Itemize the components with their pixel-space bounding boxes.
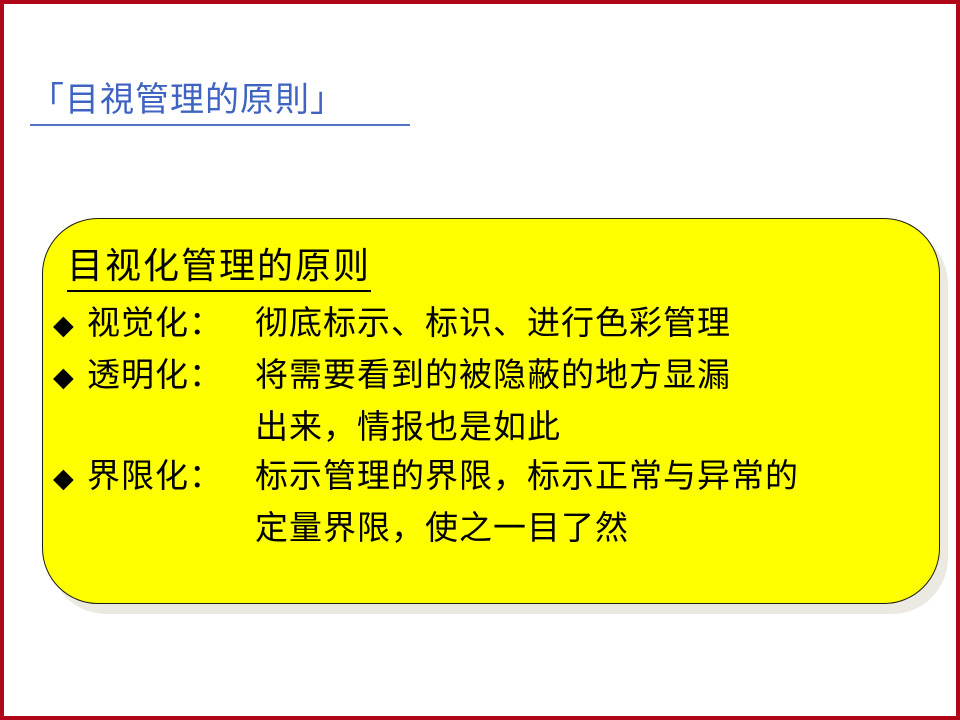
diamond-bullet-icon: ◆	[53, 353, 87, 402]
bullet-label: 视觉化：	[87, 298, 255, 347]
principles-list: ◆ 视觉化： 彻底标示、标识、进行色彩管理 ◆ 透明化： 将需要看到的被隐蔽的地…	[53, 298, 921, 552]
bullet-text: 将需要看到的被隐蔽的地方显漏	[255, 350, 921, 399]
bullet-text: 彻底标示、标识、进行色彩管理	[255, 298, 921, 347]
list-item: ◆ 视觉化： 彻底标示、标识、进行色彩管理	[53, 298, 921, 350]
page-title: 「目視管理的原則」	[30, 80, 410, 126]
bullet-continuation-row: 定量界限，使之一目了然	[53, 503, 921, 552]
callout-content: 目视化管理的原则 ◆ 视觉化： 彻底标示、标识、进行色彩管理 ◆ 透明化： 将需…	[43, 219, 939, 603]
diamond-bullet-icon: ◆	[53, 454, 87, 503]
list-item: ◆ 透明化： 将需要看到的被隐蔽的地方显漏 出来，情报也是如此	[53, 350, 921, 451]
diamond-bullet-icon: ◆	[53, 301, 87, 350]
bullet-label: 界限化：	[87, 451, 255, 500]
callout-heading: 目视化管理的原则	[67, 245, 371, 292]
bullet-continuation-row: 出来，情报也是如此	[53, 402, 921, 451]
callout-heading-row: 目视化管理的原则	[53, 245, 921, 292]
indent-spacer	[53, 402, 255, 451]
bullet-continuation-text: 定量界限，使之一目了然	[255, 503, 921, 552]
indent-spacer	[53, 503, 255, 552]
bullet-row-transparency: ◆ 透明化： 将需要看到的被隐蔽的地方显漏	[53, 350, 921, 402]
list-item: ◆ 界限化： 标示管理的界限，标示正常与异常的 定量界限，使之一目了然	[53, 451, 921, 552]
bullet-text: 标示管理的界限，标示正常与异常的	[255, 451, 921, 500]
bullet-continuation-text: 出来，情报也是如此	[255, 402, 921, 451]
bullet-label: 透明化：	[87, 350, 255, 399]
bullet-row-boundary: ◆ 界限化： 标示管理的界限，标示正常与异常的	[53, 451, 921, 503]
bullet-row-visualization: ◆ 视觉化： 彻底标示、标识、进行色彩管理	[53, 298, 921, 350]
slide-canvas: 「目視管理的原則」 目视化管理的原则 ◆ 视觉化： 彻底标示、标识、进行色彩管理…	[0, 0, 960, 720]
callout-panel: 目视化管理的原则 ◆ 视觉化： 彻底标示、标识、进行色彩管理 ◆ 透明化： 将需…	[42, 218, 940, 604]
